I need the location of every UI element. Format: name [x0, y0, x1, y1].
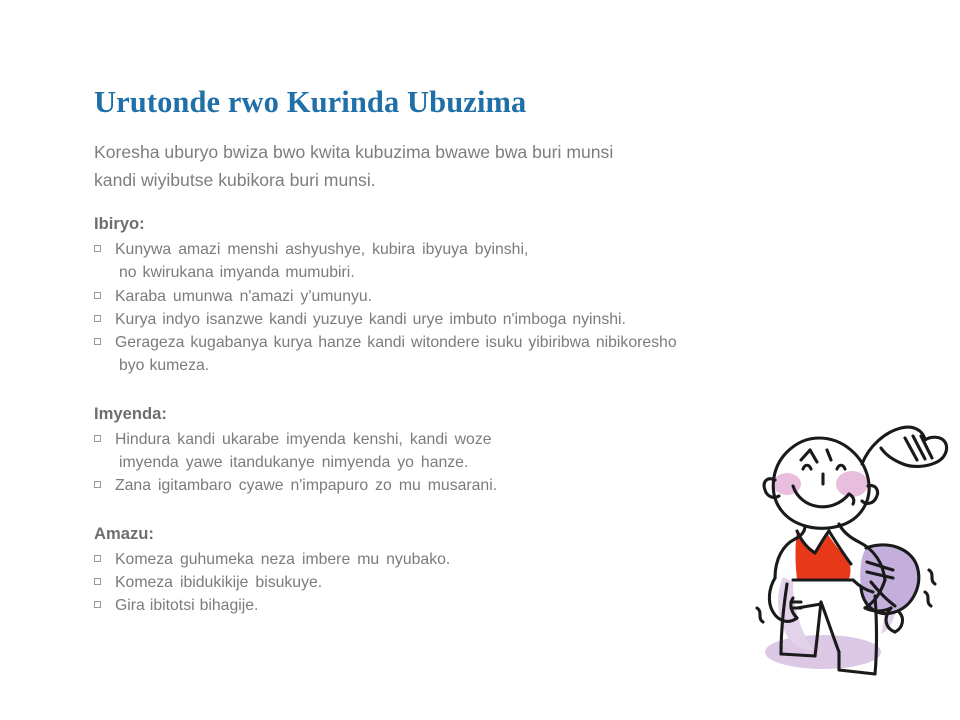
slide-canvas: Urutonde rwo Kurinda Ubuzima Koresha ubu…: [0, 0, 960, 720]
motion-tick-left: [757, 608, 763, 622]
motion-tick-right-2: [925, 592, 931, 606]
cartoon-child-svg: [735, 412, 960, 720]
blush-right: [836, 471, 868, 497]
empty-square-icon[interactable]: [94, 601, 101, 608]
list-item-line: Kunywa amazi menshi ashyushye, kubira ib…: [115, 238, 884, 261]
section-heading-ibiryo: Ibiryo:: [94, 212, 884, 235]
checklist-ibiryo: Kunywa amazi menshi ashyushye, kubira ib…: [94, 238, 884, 378]
list-item-line: Karaba umunwa n'amazi y'umunyu.: [115, 285, 884, 308]
intro-line-1: Koresha uburyo bwiza bwo kwita kubuzima …: [94, 139, 824, 167]
list-item[interactable]: Gerageza kugabanya kurya hanze kandi wit…: [94, 331, 884, 378]
neck-right: [839, 524, 859, 542]
intro-paragraph: Koresha uburyo bwiza bwo kwita kubuzima …: [94, 139, 824, 194]
list-item-line: Gerageza kugabanya kurya hanze kandi wit…: [115, 331, 884, 354]
empty-square-icon[interactable]: [94, 555, 101, 562]
torso-left: [775, 539, 795, 578]
hair-tuft-1: [801, 450, 810, 460]
hair-tuft-2: [810, 450, 817, 462]
list-item[interactable]: Kunywa amazi menshi ashyushye, kubira ib…: [94, 238, 884, 285]
empty-square-icon[interactable]: [94, 481, 101, 488]
eye-right: [837, 465, 845, 469]
hair-tuft-3: [827, 450, 831, 460]
foot-left: [781, 654, 815, 656]
crotch-line: [797, 604, 821, 608]
bag-loop-2: [895, 612, 902, 632]
empty-square-icon[interactable]: [94, 338, 101, 345]
empty-square-icon[interactable]: [94, 245, 101, 252]
list-item[interactable]: Karaba umunwa n'amazi y'umunyu.: [94, 285, 884, 308]
list-item-line: byo kumeza.: [119, 354, 884, 377]
eye-left: [803, 465, 811, 469]
list-item[interactable]: Kurya indyo isanzwe kandi yuzuye kandi u…: [94, 308, 884, 331]
empty-square-icon[interactable]: [94, 292, 101, 299]
list-item-line: Kurya indyo isanzwe kandi yuzuye kandi u…: [115, 308, 884, 331]
page-title: Urutonde rwo Kurinda Ubuzima: [94, 84, 884, 120]
motion-tick-right-1: [929, 570, 935, 584]
empty-square-icon[interactable]: [94, 315, 101, 322]
empty-square-icon[interactable]: [94, 578, 101, 585]
trouser-outer-right: [875, 596, 877, 674]
list-item-line: no kwirukana imyanda mumubiri.: [119, 261, 884, 284]
cartoon-child-illustration: [735, 412, 960, 720]
section-ibiryo: Ibiryo: Kunywa amazi menshi ashyushye, k…: [94, 212, 884, 378]
intro-line-2: kandi wiyibutse kubikora buri munsi.: [94, 167, 824, 195]
mouth-corner: [849, 494, 854, 504]
empty-square-icon[interactable]: [94, 435, 101, 442]
